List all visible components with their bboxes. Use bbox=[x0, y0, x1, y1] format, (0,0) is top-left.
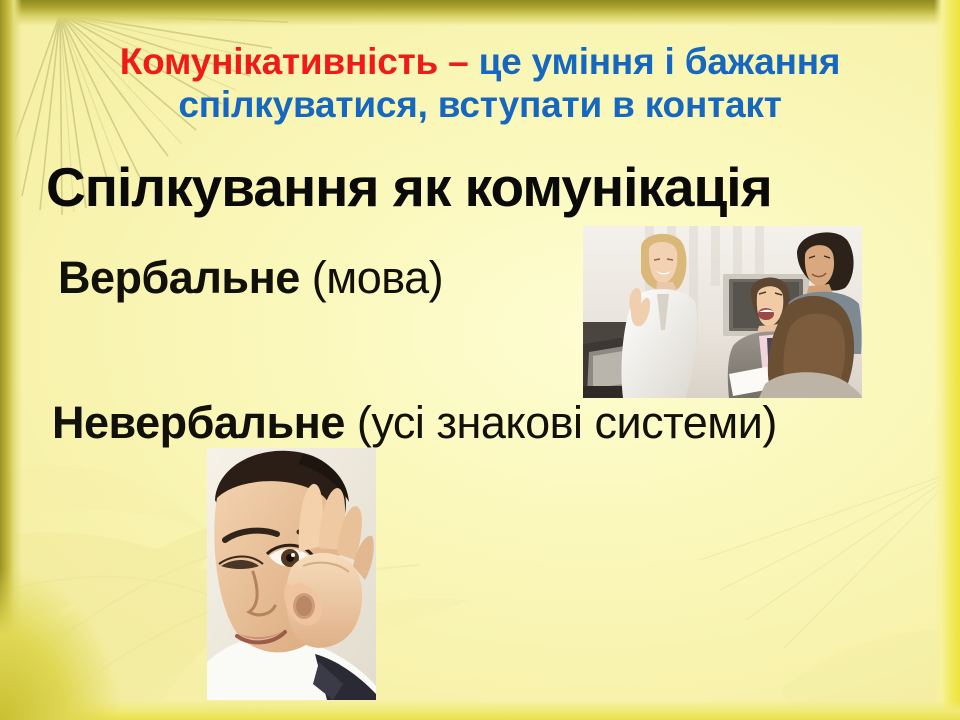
title-term-highlight: Комунікативність – bbox=[120, 41, 479, 82]
slide-border-bottom bbox=[0, 700, 960, 720]
ok-gesture-photo bbox=[207, 448, 376, 700]
list-item-nonverbal-note: (усі знакові системи) bbox=[357, 397, 777, 448]
title-definition-part2: спілкуватися, вступати в контакт bbox=[40, 83, 920, 126]
list-item-nonverbal-term: Невербальне bbox=[52, 397, 357, 448]
list-item-verbal-term: Вербальне bbox=[58, 252, 312, 303]
business-meeting-photo bbox=[583, 226, 862, 398]
title-definition-part1: це уміння і бажання bbox=[479, 41, 841, 82]
slide-corner-bottom-left bbox=[0, 570, 120, 720]
slide-title: Комунікативність – це уміння і бажання с… bbox=[40, 40, 920, 127]
page-title: Спілкування як комунікація bbox=[46, 160, 926, 215]
slide-border-top bbox=[0, 0, 960, 26]
presentation-slide: Комунікативність – це уміння і бажання с… bbox=[0, 0, 960, 720]
list-item-nonverbal: Невербальне (усі знакові системи) bbox=[52, 400, 777, 445]
list-item-verbal: Вербальне (мова) bbox=[58, 255, 443, 300]
slide-border-right bbox=[934, 0, 960, 720]
list-item-verbal-note: (мова) bbox=[312, 252, 443, 303]
